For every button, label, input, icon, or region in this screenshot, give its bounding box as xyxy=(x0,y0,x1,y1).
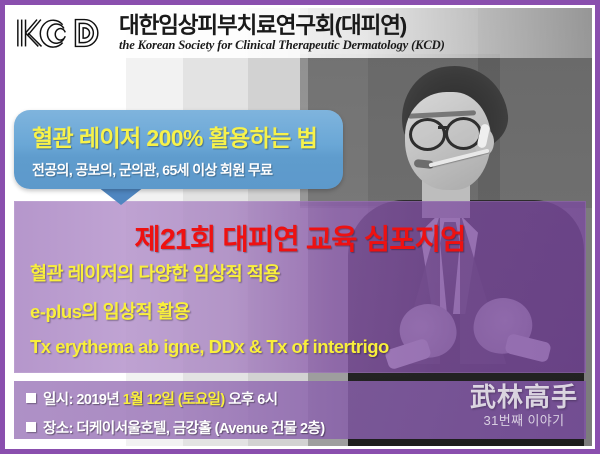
date-year: 2019년 xyxy=(76,392,119,408)
callout-headline: 혈관 레이저 200% 활용하는 법 xyxy=(32,119,343,153)
event-poster: 대한임상피부치료연구회(대피연) the Korean Society for … xyxy=(0,0,600,454)
session-list: 혈관 레이저의 다양한 임상적 적용 e-plus의 임상적 활용 Tx ery… xyxy=(30,260,570,358)
society-name-en: the Korean Society for Clinical Therapeu… xyxy=(119,39,445,52)
header-titles: 대한임상피부치료연구회(대피연) the Korean Society for … xyxy=(119,14,445,52)
square-bullet-icon xyxy=(26,393,36,403)
date-label: 일시: xyxy=(43,392,73,408)
square-bullet-icon xyxy=(26,422,36,432)
venue-label: 장소: xyxy=(43,421,73,437)
date-highlight: 1월 12일 (토요일) xyxy=(123,392,225,408)
poster-header: 대한임상피부치료연구회(대피연) the Korean Society for … xyxy=(8,8,592,58)
kcd-logo-icon xyxy=(14,15,110,51)
watermark-main-text: 武林高手 xyxy=(470,384,578,410)
main-content-band: 제21회 대피연 교육 심포지엄 혈관 레이저의 다양한 임상적 적용 e-pl… xyxy=(14,201,586,373)
callout-subline: 전공의, 공보의, 군의관, 65세 이상 회원 무료 xyxy=(32,160,343,180)
watermark-sub-text: 31번째 이야기 xyxy=(470,414,578,427)
session-item-1: 혈관 레이저의 다양한 임상적 적용 xyxy=(30,260,570,286)
date-time: 오후 6시 xyxy=(228,392,277,408)
symposium-title: 제21회 대피연 교육 심포지엄 xyxy=(14,217,586,258)
series-watermark: 武林高手 31번째 이야기 xyxy=(470,384,578,427)
callout-tail xyxy=(98,187,144,205)
session-item-2: e-plus의 임상적 활용 xyxy=(30,298,570,324)
venue-value: 더케이서울호텔, 금강홀 (Avenue 건물 2층) xyxy=(76,421,324,437)
society-name-ko: 대한임상피부치료연구회(대피연) xyxy=(119,14,445,37)
glasses-lens-right-icon xyxy=(445,117,482,150)
glasses-lens-left-icon xyxy=(409,118,446,151)
glasses-bridge-icon xyxy=(438,126,448,129)
session-item-3: Tx erythema ab igne, DDx & Tx of intertr… xyxy=(30,336,570,358)
callout-bubble: 혈관 레이저 200% 활용하는 법 전공의, 공보의, 군의관, 65세 이상… xyxy=(14,110,343,189)
